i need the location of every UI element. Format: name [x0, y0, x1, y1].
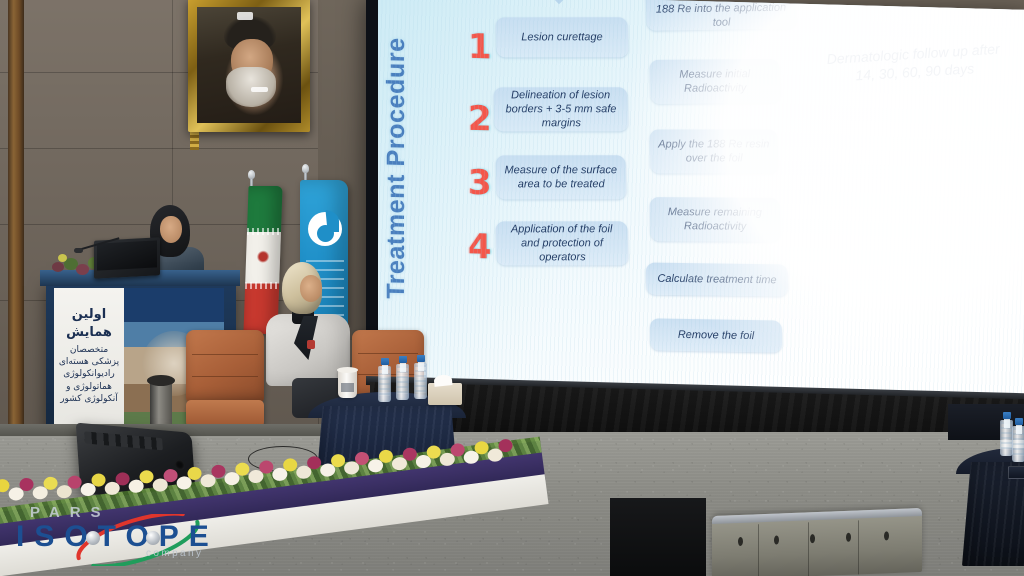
- presentation-photo-scene: Treatment Procedure 1 2 3 4 Lesion curet…: [0, 0, 1024, 576]
- speaker-grille: [84, 431, 163, 450]
- panelist-badge: [307, 340, 315, 349]
- wall-wood-trim: [8, 0, 24, 440]
- slide-step-box-mid-6: Remove the foil: [650, 318, 782, 352]
- paper-cup[interactable]: [338, 370, 357, 398]
- slide-step-box-mid-5: Calculate treatment time: [646, 263, 788, 297]
- panelist-face: [300, 275, 322, 302]
- step-number-4: 4: [468, 227, 492, 268]
- slide-step-box-left-3: Measure of the surface area to be treate…: [495, 155, 626, 199]
- slide-step-box-left-2: Delineation of lesion borders + 3-5 mm s…: [493, 87, 628, 131]
- tissue-box[interactable]: [428, 383, 462, 405]
- speaker-face: [160, 216, 182, 243]
- podium-banner: اولین همایش متخصصان پزشکی هسته‌ای رادیوا…: [54, 288, 124, 443]
- slide-surface: Treatment Procedure 1 2 3 4 Lesion curet…: [378, 0, 1024, 396]
- water-bottle[interactable]: [378, 358, 391, 402]
- banner-heading: اولین همایش: [54, 306, 124, 341]
- equipment-flight-case: [712, 508, 922, 576]
- slide-step-box-left-1: Lesion curettage: [495, 17, 628, 57]
- organization-flag-finial: [302, 164, 309, 173]
- slide-title: Treatment Procedure: [382, 0, 411, 299]
- bottle-cap-icon: [1015, 418, 1023, 425]
- banner-line-3: رادیوانکولوژی: [54, 368, 124, 380]
- step-number-3: 3: [468, 163, 492, 204]
- portrait-image: [197, 7, 301, 123]
- banner-line-1: متخصصان: [54, 344, 124, 356]
- banner-line-5: آنکولوژی کشور: [54, 393, 124, 405]
- bottle-cap-icon: [399, 356, 407, 363]
- banner-line-2: پزشکی هسته‌ای: [54, 356, 124, 368]
- water-bottle[interactable]: [414, 355, 427, 399]
- slide-step-box-right-1: Dermatologic follow up after 14, 30, 60,…: [808, 31, 1020, 97]
- bottle-cap-icon: [381, 358, 389, 365]
- framed-portrait: [188, 0, 310, 132]
- dark-stage-riser: [610, 498, 706, 576]
- chair-left-back: [186, 330, 264, 402]
- bottle-cap-icon: [1003, 412, 1011, 419]
- slide-step-box-left-4: Application of the foil and protection o…: [495, 221, 628, 265]
- slide-step-box-mid-3: Apply the 188 Re resin over the foil: [649, 129, 778, 173]
- slide-step-box-mid-2: Measure initial Radioactivity: [649, 59, 780, 104]
- banner-line-4: هماتولوژی و: [54, 381, 124, 393]
- water-bottle[interactable]: [396, 356, 409, 400]
- organization-logo-icon: [308, 212, 342, 246]
- iran-flag-finial: [248, 170, 255, 179]
- water-bottle[interactable]: [1012, 418, 1024, 462]
- name-plate: [1008, 466, 1024, 479]
- step-number-2: 2: [468, 99, 492, 140]
- slide-step-box-mid-4: Measure remaining Radioactivity: [650, 197, 781, 242]
- chevron-down-icon: [548, 0, 570, 5]
- slide-step-box-mid-1: Load carpoule filled with 188 Re into th…: [645, 0, 797, 31]
- slide-step-box-mid-1-text: Load carpoule filled with 188 Re into th…: [652, 0, 790, 31]
- step-number-1: 1: [468, 27, 492, 68]
- bottle-cap-icon: [417, 355, 425, 362]
- iran-flag-emblem: [256, 249, 269, 263]
- microphone-icon: [74, 248, 83, 253]
- projection-screen: Treatment Procedure 1 2 3 4 Lesion curet…: [366, 0, 1024, 410]
